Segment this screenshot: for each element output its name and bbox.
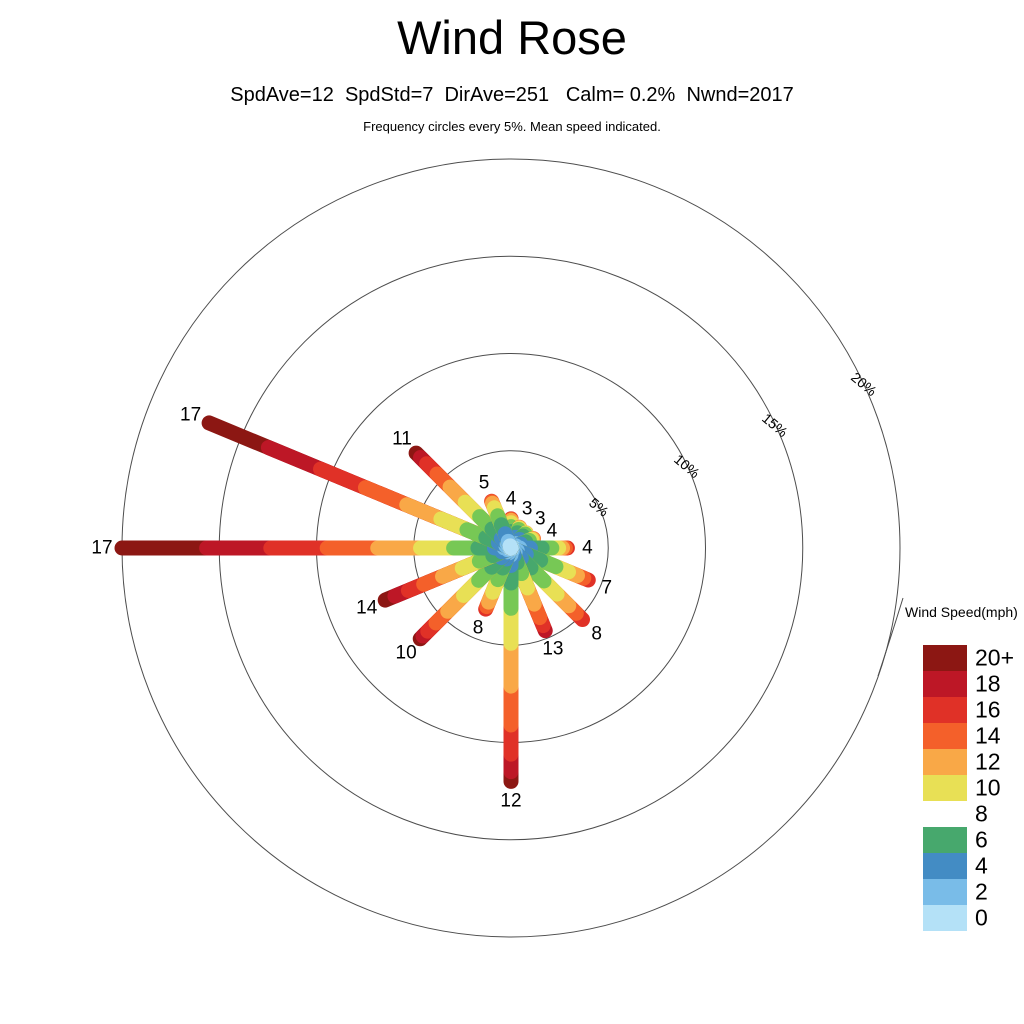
legend-label-16: 16 [975, 699, 1001, 722]
mean-speed-label-SE: 8 [591, 624, 602, 643]
mean-speed-label-NW: 11 [392, 429, 412, 448]
legend-label-20+: 20+ [975, 647, 1014, 670]
legend-swatch-20+[interactable] [923, 645, 967, 671]
wind-rose-page: Wind Rose SpdAve=12 SpdStd=7 DirAve=251 … [0, 0, 1024, 1024]
legend-leader-path [878, 598, 903, 676]
legend-label-12: 12 [975, 751, 1001, 774]
legend-leader-line [878, 598, 903, 676]
wind-petals [122, 423, 588, 781]
legend-label-8: 8 [975, 803, 988, 826]
legend-swatch-6[interactable] [923, 827, 967, 853]
mean-speed-label-ENE: 4 [547, 522, 558, 541]
legend-label-18: 18 [975, 673, 1001, 696]
legend-swatch-14[interactable] [923, 723, 967, 749]
legend-swatch-10[interactable] [923, 775, 967, 801]
mean-speed-label-NNE: 3 [522, 499, 533, 518]
mean-speed-label-W: 17 [91, 539, 112, 558]
mean-speed-label-WSW: 14 [356, 598, 377, 617]
legend-swatch-0[interactable] [923, 905, 967, 931]
mean-speed-label-WNW: 17 [180, 406, 201, 425]
legend-label-10: 10 [975, 777, 1001, 800]
petal-NNW-bin-0 [510, 546, 511, 548]
legend-title: Wind Speed(mph) [905, 604, 1018, 620]
legend-swatch-8[interactable] [923, 801, 967, 827]
mean-speed-label-ESE: 7 [601, 578, 612, 597]
legend-label-2: 2 [975, 881, 988, 904]
legend-label-6: 6 [975, 829, 988, 852]
mean-speed-label-SW: 10 [396, 643, 417, 662]
mean-speed-label-SSW: 8 [473, 618, 484, 637]
legend-label-14: 14 [975, 725, 1001, 748]
legend-swatch-16[interactable] [923, 697, 967, 723]
legend-swatch-12[interactable] [923, 749, 967, 775]
legend-swatch-18[interactable] [923, 671, 967, 697]
mean-speed-label-N: 4 [506, 489, 517, 508]
legend-swatch-2[interactable] [923, 879, 967, 905]
legend-label-0: 0 [975, 907, 988, 930]
mean-speed-label-NE: 3 [535, 509, 546, 528]
mean-speed-label-S: 12 [500, 792, 521, 811]
wind-rose-plot [0, 0, 1024, 1024]
legend-swatch-4[interactable] [923, 853, 967, 879]
mean-speed-label-NNW: 5 [479, 473, 490, 492]
mean-speed-label-SSE: 13 [542, 640, 563, 659]
legend-label-4: 4 [975, 855, 988, 878]
mean-speed-label-E: 4 [582, 539, 593, 558]
